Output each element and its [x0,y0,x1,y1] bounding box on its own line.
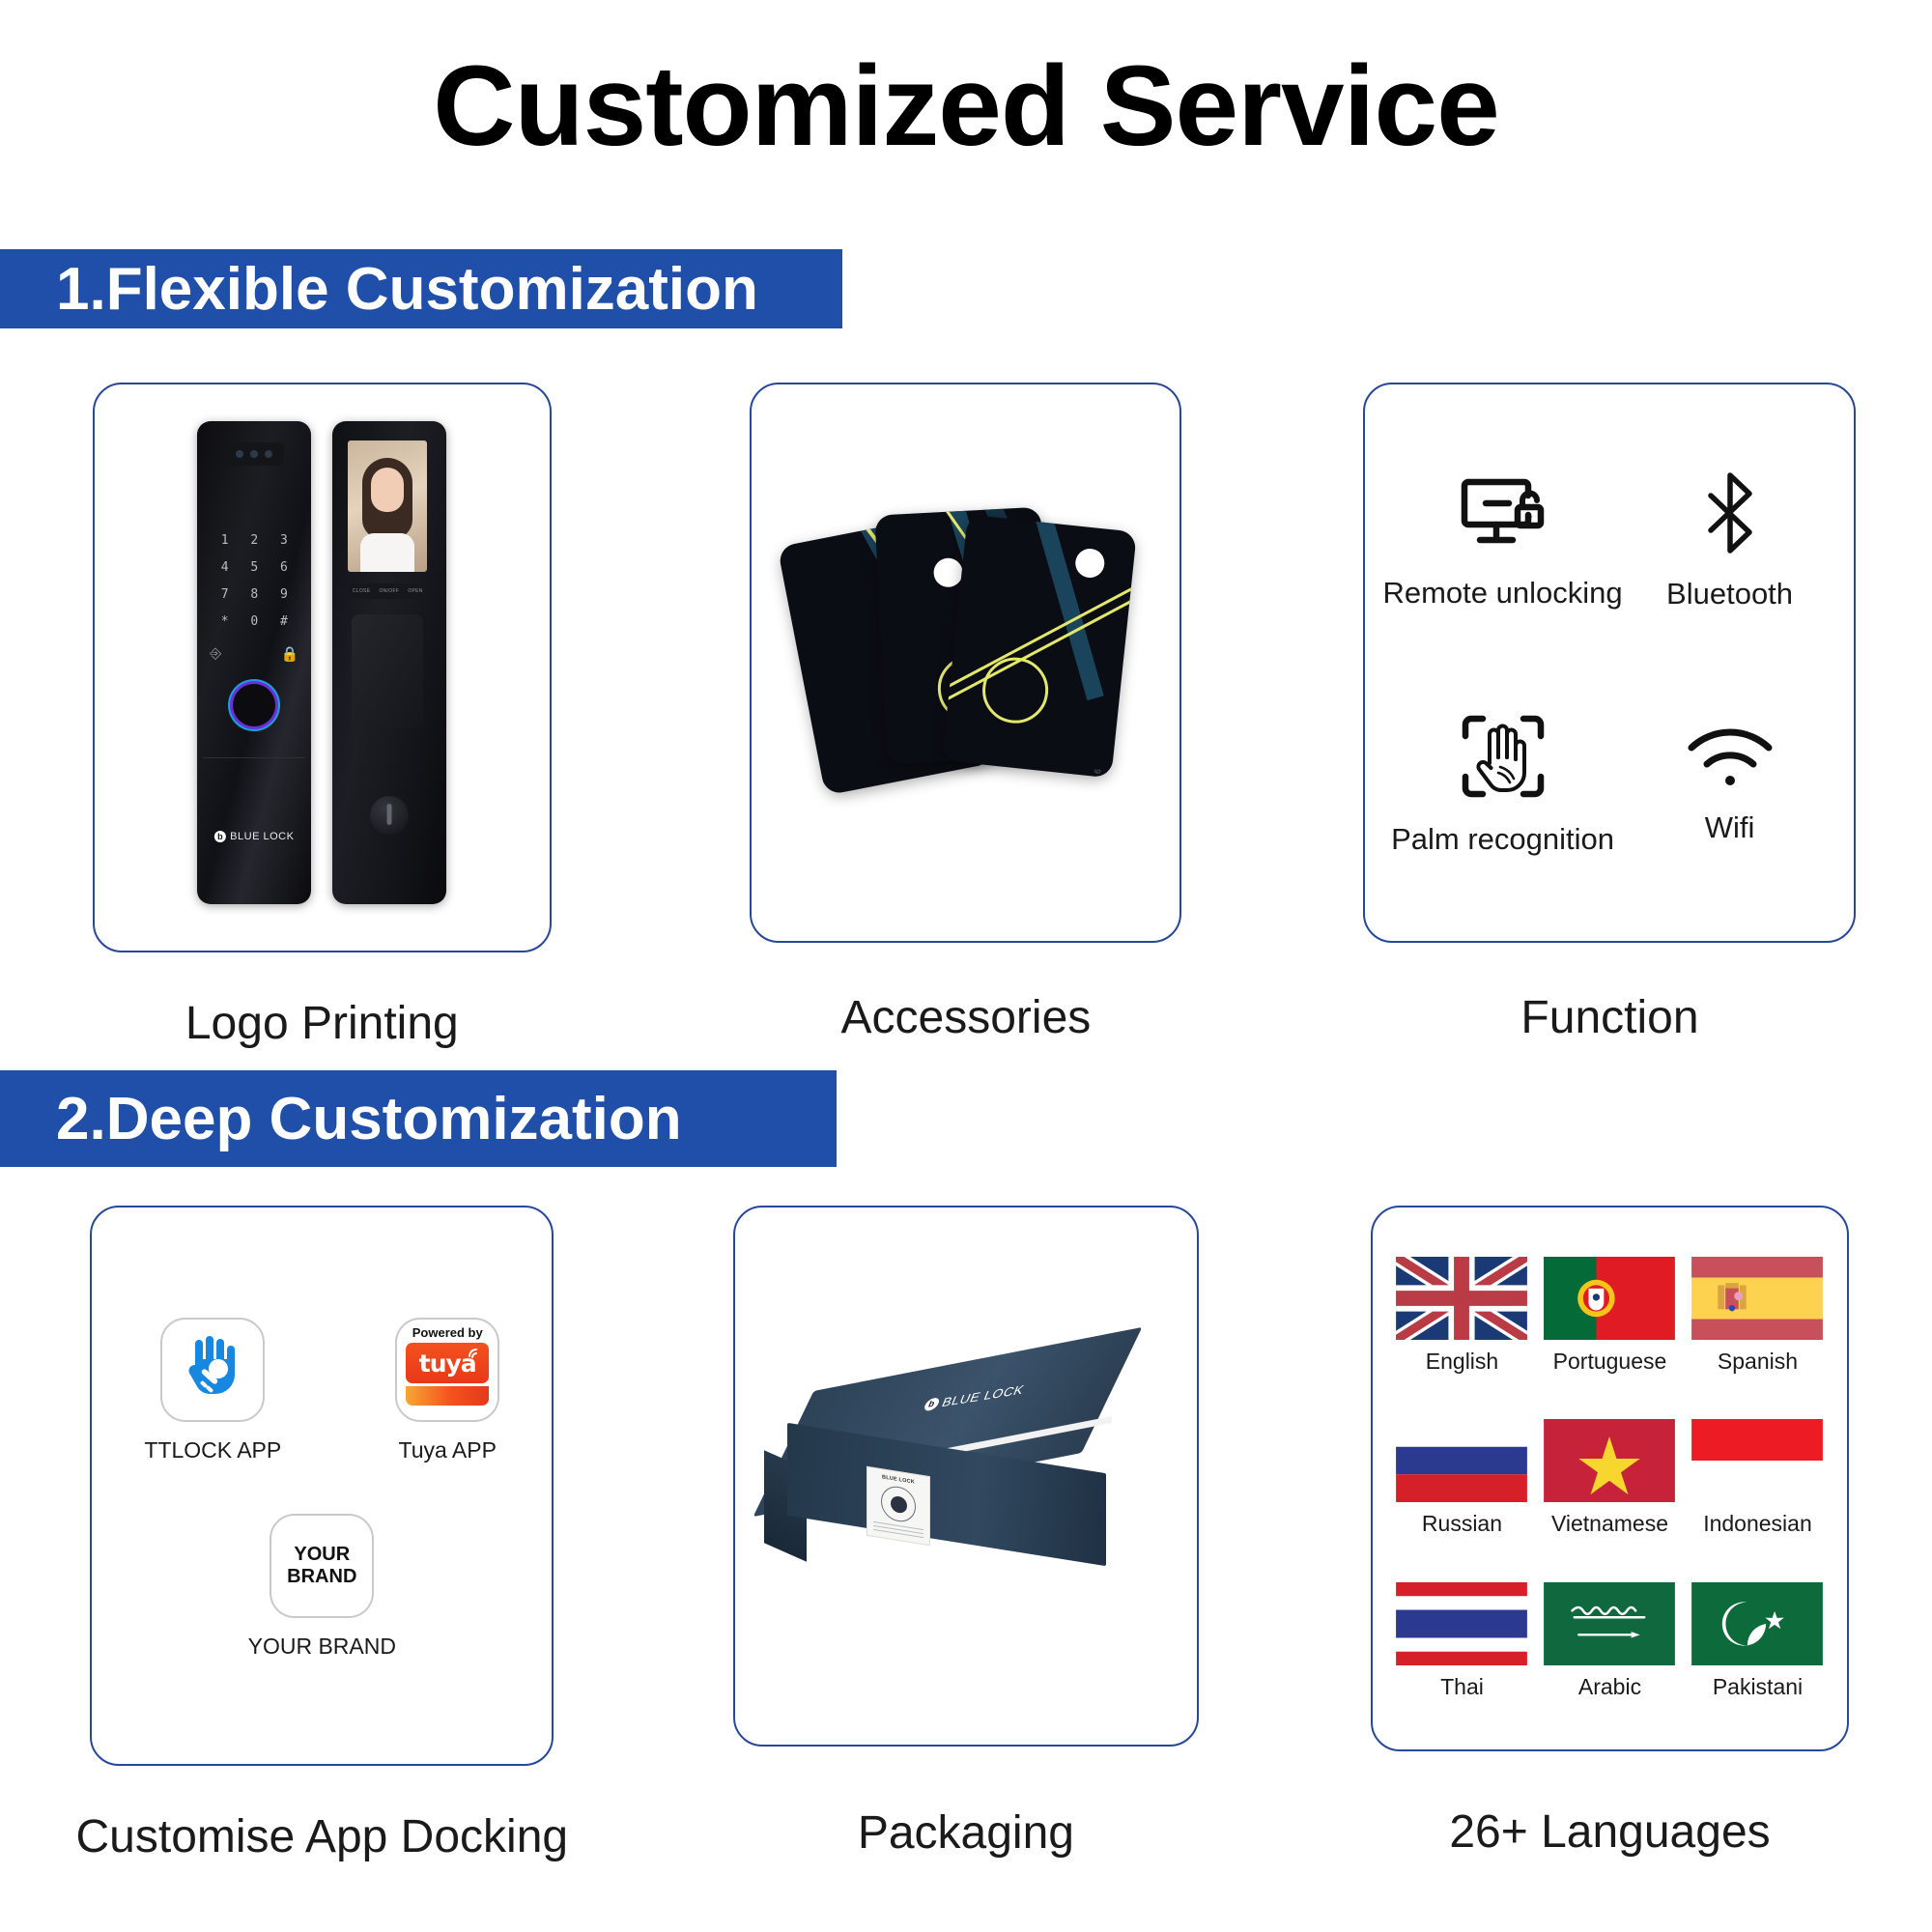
app-label: TTLOCK APP [144,1437,281,1463]
keypad-key: 5 [240,560,270,575]
lock-interior-panel: CLOSE ON/OFF OPEN [332,421,446,904]
language-item-vietnamese[interactable]: Vietnamese [1536,1397,1684,1559]
card-languages[interactable]: English [1371,1206,1849,1751]
lock-camera-module [224,442,284,466]
cell-app-docking: TTLOCK APP Powered by tuya [0,1206,644,1863]
lock-thumb-turn-knob [370,796,409,835]
keypad-key: * [210,614,240,629]
card-function[interactable]: Remote unlocking Bluetooth [1363,383,1856,943]
key-card-digits: 1 2 3 4 5 6 [1090,769,1104,779]
function-icon-grid: Remote unlocking Bluetooth [1365,384,1854,941]
your-brand-line2: BRAND [287,1566,356,1588]
app-label: YOUR BRAND [248,1634,396,1660]
cell-function: Remote unlocking Bluetooth [1288,383,1932,1050]
keypad-key: 4 [210,560,240,575]
app-icons-wrap: TTLOCK APP Powered by tuya [92,1207,552,1764]
cell-packaging: b BLUE LOCK BLUE LOCK Packaging [644,1206,1289,1863]
rfid-key-card: 1 2 3 4 5 6 [942,515,1137,779]
deep-customization-row: TTLOCK APP Powered by tuya [0,1206,1932,1863]
wifi-icon [1686,724,1775,793]
tuya-logo-box: tuya [406,1343,489,1383]
card-app-docking[interactable]: TTLOCK APP Powered by tuya [90,1206,554,1766]
cell-accessories: 1 2 3 4 5 6 7 8 9 1 2 3 4 5 6 Accessorie… [644,383,1289,1050]
your-brand-icon: YOUR BRAND [270,1514,374,1618]
language-label: Vietnamese [1551,1511,1668,1537]
language-item-thai[interactable]: Thai [1388,1560,1536,1722]
screen-button: CLOSE [353,588,370,594]
customized-service-page: Customized Service 1.Flexible Customizat… [0,0,1932,1932]
flag-id-icon [1691,1419,1823,1502]
flag-ru-icon [1396,1419,1527,1502]
language-label: Portuguese [1553,1349,1667,1375]
flag-gb-icon [1396,1257,1527,1340]
bluetooth-icon [1702,471,1758,559]
caption-packaging: Packaging [858,1806,1074,1860]
box-product-label: BLUE LOCK [867,1466,930,1546]
page-title: Customized Service [0,44,1932,170]
your-brand-line1: YOUR [287,1544,356,1566]
language-label: Arabic [1578,1674,1641,1700]
language-item-spanish[interactable]: Spanish [1684,1235,1832,1397]
caption-logo-printing: Logo Printing [185,997,459,1050]
packaging-box-illustration: b BLUE LOCK BLUE LOCK [758,1355,1174,1597]
keypad-key: 0 [240,614,270,629]
language-item-arabic[interactable]: Arabic [1536,1560,1684,1722]
function-label: Wifi [1705,810,1755,845]
app-item-tuya[interactable]: Powered by tuya [395,1318,499,1463]
caption-accessories: Accessories [841,991,1092,1044]
language-item-indonesian[interactable]: Indonesian [1684,1397,1832,1559]
tuya-powered-by-label: Powered by [412,1326,483,1339]
card-logo-printing[interactable]: 1 2 3 4 5 6 7 8 9 * 0 # [93,383,552,952]
language-label: Pakistani [1713,1674,1803,1700]
function-item-remote-unlocking[interactable]: Remote unlocking [1382,419,1622,663]
keypad-key: 1 [210,533,240,548]
flexible-customization-row: 1 2 3 4 5 6 7 8 9 * 0 # [0,383,1932,1050]
function-label: Remote unlocking [1382,576,1622,611]
section-banner-deep: 2.Deep Customization [0,1070,837,1167]
app-item-your-brand[interactable]: YOUR BRAND YOUR BRAND [248,1514,396,1660]
box-label-title: BLUE LOCK [882,1474,915,1485]
language-item-pakistani[interactable]: Pakistani [1684,1560,1832,1722]
function-label: Bluetooth [1666,577,1793,611]
palm-recognition-icon [1460,713,1547,805]
remote-unlock-icon [1459,472,1548,558]
language-label: Russian [1422,1511,1502,1537]
keypad-key: 6 [270,560,299,575]
face-body-shape [360,533,414,572]
language-item-portuguese[interactable]: Portuguese [1536,1235,1684,1397]
keypad-key: # [270,614,299,629]
card-packaging[interactable]: b BLUE LOCK BLUE LOCK [733,1206,1199,1747]
smart-lock-illustration: 1 2 3 4 5 6 7 8 9 * 0 # [162,421,481,914]
flag-pt-icon [1544,1257,1675,1340]
caption-function: Function [1520,991,1698,1044]
language-label: English [1426,1349,1498,1375]
rfid-key-cards-illustration: 1 2 3 4 5 6 7 8 9 1 2 3 4 5 6 [792,503,1140,822]
app-label: Tuya APP [399,1437,497,1463]
app-item-ttlock[interactable]: TTLOCK APP [144,1318,281,1463]
function-item-palm-recognition[interactable]: Palm recognition [1382,663,1622,906]
lock-screen-buttons: CLOSE ON/OFF OPEN [348,583,427,599]
brand-mark-icon: b [214,831,226,842]
app-row-top: TTLOCK APP Powered by tuya [144,1318,499,1463]
language-item-english[interactable]: English [1388,1235,1536,1397]
language-label: Thai [1440,1674,1484,1700]
flag-th-icon [1396,1582,1527,1665]
language-item-russian[interactable]: Russian [1388,1397,1536,1559]
screen-button: OPEN [408,588,422,594]
function-item-wifi[interactable]: Wifi [1623,663,1837,906]
language-label: Spanish [1718,1349,1798,1375]
caption-languages: 26+ Languages [1449,1805,1770,1859]
section-banner-flexible: 1.Flexible Customization [0,249,842,328]
lock-seam-line [203,757,305,758]
screen-button: ON/OFF [379,588,399,594]
section-banner-flexible-label: 1.Flexible Customization [56,255,758,324]
flag-es-icon [1691,1257,1823,1340]
lock-display-screen [348,440,427,572]
ttlock-app-icon [160,1318,265,1422]
function-label: Palm recognition [1391,822,1614,857]
flag-pk-icon [1691,1582,1823,1665]
lock-front-panel: 1 2 3 4 5 6 7 8 9 * 0 # [197,421,311,904]
lock-extra-keys: ⎆ 🔒 [210,645,298,663]
lock-keypad: 1 2 3 4 5 6 7 8 9 * 0 # [210,533,298,629]
lock-brand-logo: b BLUE LOCK [214,831,294,842]
flag-sa-icon [1544,1582,1675,1665]
doorbell-icon: ⎆ [210,645,221,663]
caption-app-docking: Customise App Docking [76,1810,569,1863]
tuya-app-icon: Powered by tuya [395,1318,499,1422]
lock-brand-text: BLUE LOCK [230,831,294,842]
keypad-key: 9 [270,587,299,602]
keypad-key: 8 [240,587,270,602]
card-accessories[interactable]: 1 2 3 4 5 6 7 8 9 1 2 3 4 5 6 [750,383,1181,943]
cell-logo-printing: 1 2 3 4 5 6 7 8 9 * 0 # [0,383,644,1050]
language-label: Indonesian [1703,1511,1812,1537]
keypad-key: 3 [270,533,299,548]
box-label-textlines [873,1521,923,1541]
lock-handle [352,614,423,728]
section-banner-deep-label: 2.Deep Customization [56,1085,682,1153]
your-brand-tile-text: YOUR BRAND [287,1544,356,1588]
box-label-seal-icon [881,1484,916,1524]
fingerprint-sensor-icon [233,684,275,726]
tuya-gradient-bar [406,1386,489,1406]
keypad-key: 7 [210,587,240,602]
language-flag-grid: English [1373,1207,1847,1749]
face-skin-shape [371,468,404,512]
flag-vn-icon [1544,1419,1675,1502]
padlock-icon: 🔒 [281,645,299,663]
cell-languages: English [1288,1206,1932,1863]
function-item-bluetooth[interactable]: Bluetooth [1623,419,1837,663]
keypad-key: 2 [240,533,270,548]
